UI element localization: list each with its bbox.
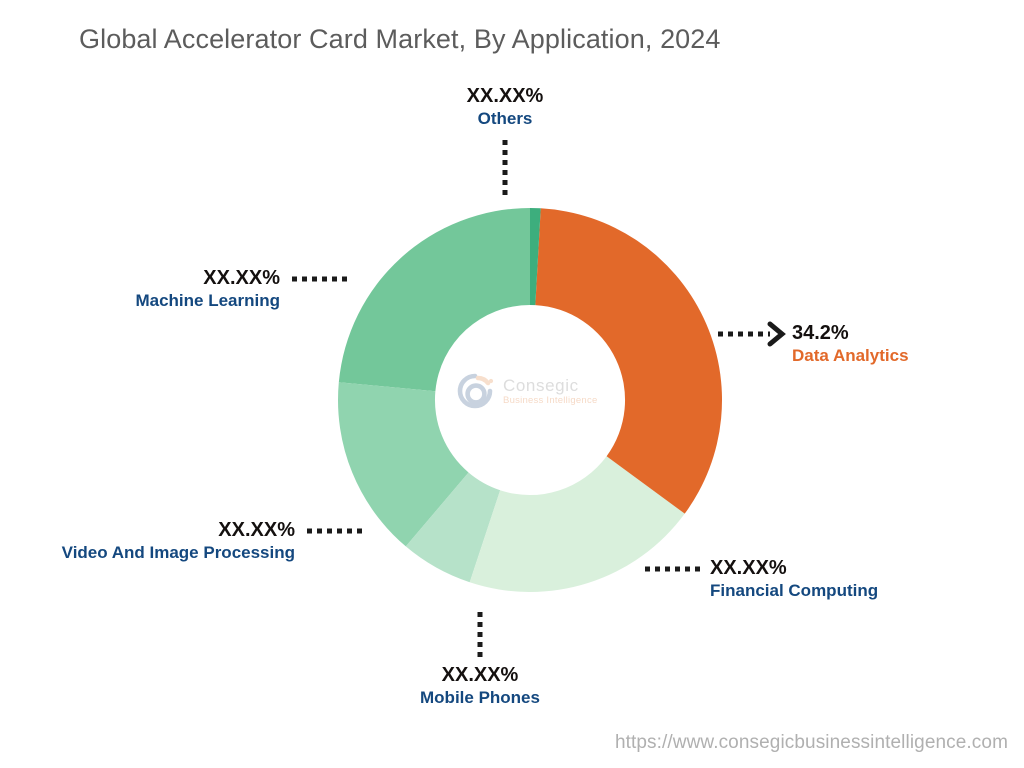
label-mobile-phones-category: Mobile Phones xyxy=(395,687,565,709)
label-others[interactable]: XX.XX% Others xyxy=(420,84,590,130)
label-data-analytics[interactable]: 34.2% Data Analytics xyxy=(792,321,909,367)
donut-chart: Consegic Business Intelligence XX.XX% Ot… xyxy=(0,0,1024,768)
label-machine-learning-percent: XX.XX% xyxy=(0,266,280,290)
label-mobile-phones[interactable]: XX.XX% Mobile Phones xyxy=(395,663,565,709)
slice-data-analytics[interactable] xyxy=(535,208,722,513)
label-machine-learning-category: Machine Learning xyxy=(0,290,280,312)
leader-arrowhead-data-analytics xyxy=(770,324,782,344)
label-financial-computing-percent: XX.XX% xyxy=(710,556,878,580)
label-others-category: Others xyxy=(420,108,590,130)
label-data-analytics-category: Data Analytics xyxy=(792,345,909,367)
label-financial-computing[interactable]: XX.XX% Financial Computing xyxy=(710,556,878,602)
label-machine-learning[interactable]: XX.XX% Machine Learning xyxy=(0,266,280,312)
label-data-analytics-percent: 34.2% xyxy=(792,321,909,345)
label-mobile-phones-percent: XX.XX% xyxy=(395,663,565,687)
label-video-and-image-processing[interactable]: XX.XX% Video And Image Processing xyxy=(0,518,295,564)
label-video-and-image-processing-category: Video And Image Processing xyxy=(0,542,295,564)
label-video-and-image-processing-percent: XX.XX% xyxy=(0,518,295,542)
label-financial-computing-category: Financial Computing xyxy=(710,580,878,602)
source-url[interactable]: https://www.consegicbusinessintelligence… xyxy=(615,732,1008,754)
slice-machine-learning[interactable] xyxy=(339,208,530,391)
label-others-percent: XX.XX% xyxy=(420,84,590,108)
chart-root: Global Accelerator Card Market, By Appli… xyxy=(0,0,1024,768)
